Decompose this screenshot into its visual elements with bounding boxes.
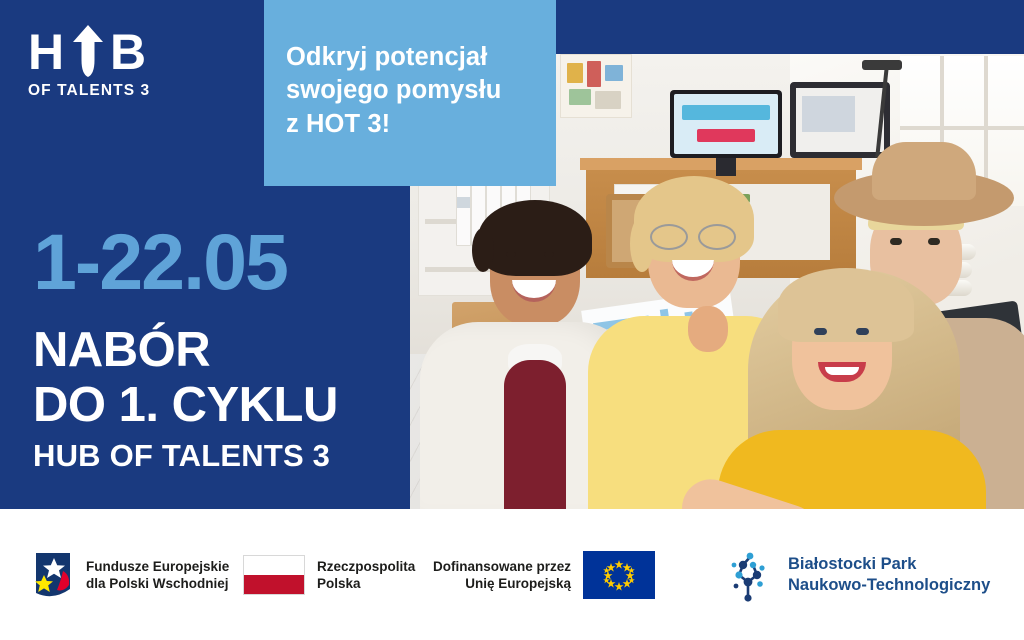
footer-funds-line-1: Fundusze Europejskie bbox=[86, 558, 229, 575]
promotional-banner: Odkryj potencjał swojego pomysłu z HOT 3… bbox=[0, 0, 1024, 640]
poland-flag-icon bbox=[243, 555, 305, 595]
date-range: 1-22.05 bbox=[33, 222, 287, 301]
bpnt-network-logo bbox=[726, 548, 774, 602]
footer-eu-line-2: Unię Europejską bbox=[433, 575, 571, 592]
footer-eu-block: Dofinansowane przez Unię Europejską bbox=[433, 509, 655, 640]
footer-partner-text: Białostocki Park Naukowo-Technologiczny bbox=[788, 554, 990, 596]
logo-letter-b: B bbox=[110, 28, 145, 76]
title-line-1: NABÓR bbox=[33, 323, 338, 378]
footer-partner-block: Białostocki Park Naukowo-Technologiczny bbox=[726, 509, 990, 640]
fundusze-europejskie-logo bbox=[30, 549, 74, 601]
photo-monitor-secondary bbox=[790, 82, 890, 158]
up-arrow-icon bbox=[70, 25, 106, 77]
logo-subtitle: OF TALENTS 3 bbox=[28, 82, 158, 100]
page-title: NABÓR DO 1. CYKLU HUB OF TALENTS 3 bbox=[33, 323, 338, 477]
photo-monitor-primary bbox=[670, 90, 782, 158]
footer-republic-line-1: Rzeczpospolita bbox=[317, 558, 415, 575]
hero-message-block: Odkryj potencjał swojego pomysłu z HOT 3… bbox=[264, 0, 556, 186]
footer-partner-line-1: Białostocki Park bbox=[788, 554, 990, 575]
title-line-2: DO 1. CYKLU bbox=[33, 378, 338, 433]
title-line-3: HUB OF TALENTS 3 bbox=[33, 435, 338, 477]
logo-mark: H B bbox=[28, 28, 158, 76]
footer-republic-text: Rzeczpospolita Polska bbox=[317, 558, 415, 592]
footer-funds-block: Fundusze Europejskie dla Polski Wschodni… bbox=[30, 509, 229, 640]
hero-line-3: z HOT 3! bbox=[286, 108, 501, 142]
footer-logo-bar: Fundusze Europejskie dla Polski Wschodni… bbox=[0, 509, 1024, 640]
european-union-flag-icon bbox=[583, 551, 655, 599]
hero-line-2: swojego pomysłu bbox=[286, 74, 501, 108]
footer-partner-line-2: Naukowo-Technologiczny bbox=[788, 575, 990, 596]
photo-person-woman-blonde bbox=[726, 254, 976, 509]
footer-funds-line-2: dla Polski Wschodniej bbox=[86, 575, 229, 592]
footer-republic-block: Rzeczpospolita Polska bbox=[243, 509, 415, 640]
footer-eu-line-1: Dofinansowane przez bbox=[433, 558, 571, 575]
footer-republic-line-2: Polska bbox=[317, 575, 415, 592]
hero-message-text: Odkryj potencjał swojego pomysłu z HOT 3… bbox=[264, 41, 501, 146]
footer-funds-text: Fundusze Europejskie dla Polski Wschodni… bbox=[86, 558, 229, 592]
photo-lamp-head bbox=[862, 60, 902, 70]
hero-line-1: Odkryj potencjał bbox=[286, 41, 501, 75]
logo-letter-h: H bbox=[28, 28, 63, 76]
hub-of-talents-logo: H B OF TALENTS 3 bbox=[28, 28, 158, 100]
photo-pinboard bbox=[560, 54, 632, 118]
footer-eu-text: Dofinansowane przez Unię Europejską bbox=[433, 558, 571, 592]
